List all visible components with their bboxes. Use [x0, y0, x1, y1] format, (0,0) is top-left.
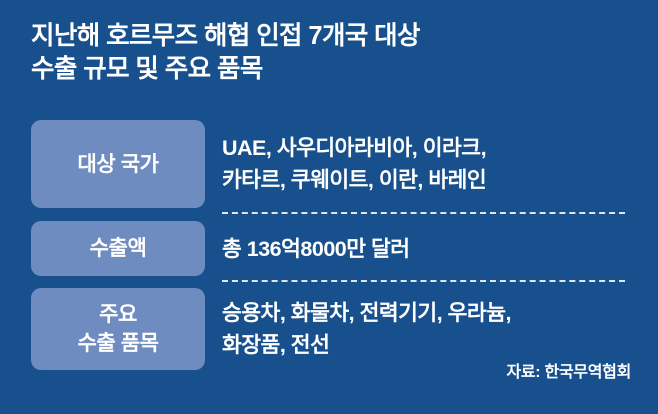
row-value-countries: UAE, 사우디아라비아, 이라크, 카타르, 쿠웨이트, 이란, 바레인 — [222, 120, 638, 208]
row-value-line: 화장품, 전선 — [222, 329, 638, 361]
table-row: 수출액 총 136억8000만 달러 — [0, 221, 658, 276]
infographic-card: 지난해 호르무즈 해협 인접 7개국 대상 수출 규모 및 주요 품목 대상 국… — [0, 0, 658, 414]
page-title: 지난해 호르무즈 해협 인접 7개국 대상 수출 규모 및 주요 품목 — [31, 20, 631, 86]
row-label-chip-export-amount: 수출액 — [31, 221, 205, 276]
row-label-line: 수출액 — [90, 234, 147, 263]
row-value-export-amount: 총 136억8000만 달러 — [222, 221, 638, 276]
row-value-line: 승용차, 화물차, 전력기기, 우라늄, — [222, 297, 638, 329]
row-label-line: 대상 국가 — [77, 150, 158, 179]
row-value-line: 총 136억8000만 달러 — [222, 233, 638, 265]
row-label-line: 수출 품목 — [77, 329, 158, 358]
row-label-line: 주요 — [99, 300, 137, 329]
title-line-1: 지난해 호르무즈 해협 인접 7개국 대상 — [31, 20, 631, 53]
row-label-chip-countries: 대상 국가 — [31, 120, 205, 208]
row-label-chip-main-items: 주요 수출 품목 — [31, 288, 205, 370]
row-divider — [222, 212, 625, 214]
table-row: 대상 국가 UAE, 사우디아라비아, 이라크, 카타르, 쿠웨이트, 이란, … — [0, 120, 658, 208]
row-divider — [222, 280, 625, 282]
source-attribution: 자료: 한국무역협회 — [506, 358, 631, 382]
row-value-line: UAE, 사우디아라비아, 이라크, — [222, 132, 638, 164]
row-value-line: 카타르, 쿠웨이트, 이란, 바레인 — [222, 164, 638, 196]
title-line-2: 수출 규모 및 주요 품목 — [31, 53, 631, 86]
